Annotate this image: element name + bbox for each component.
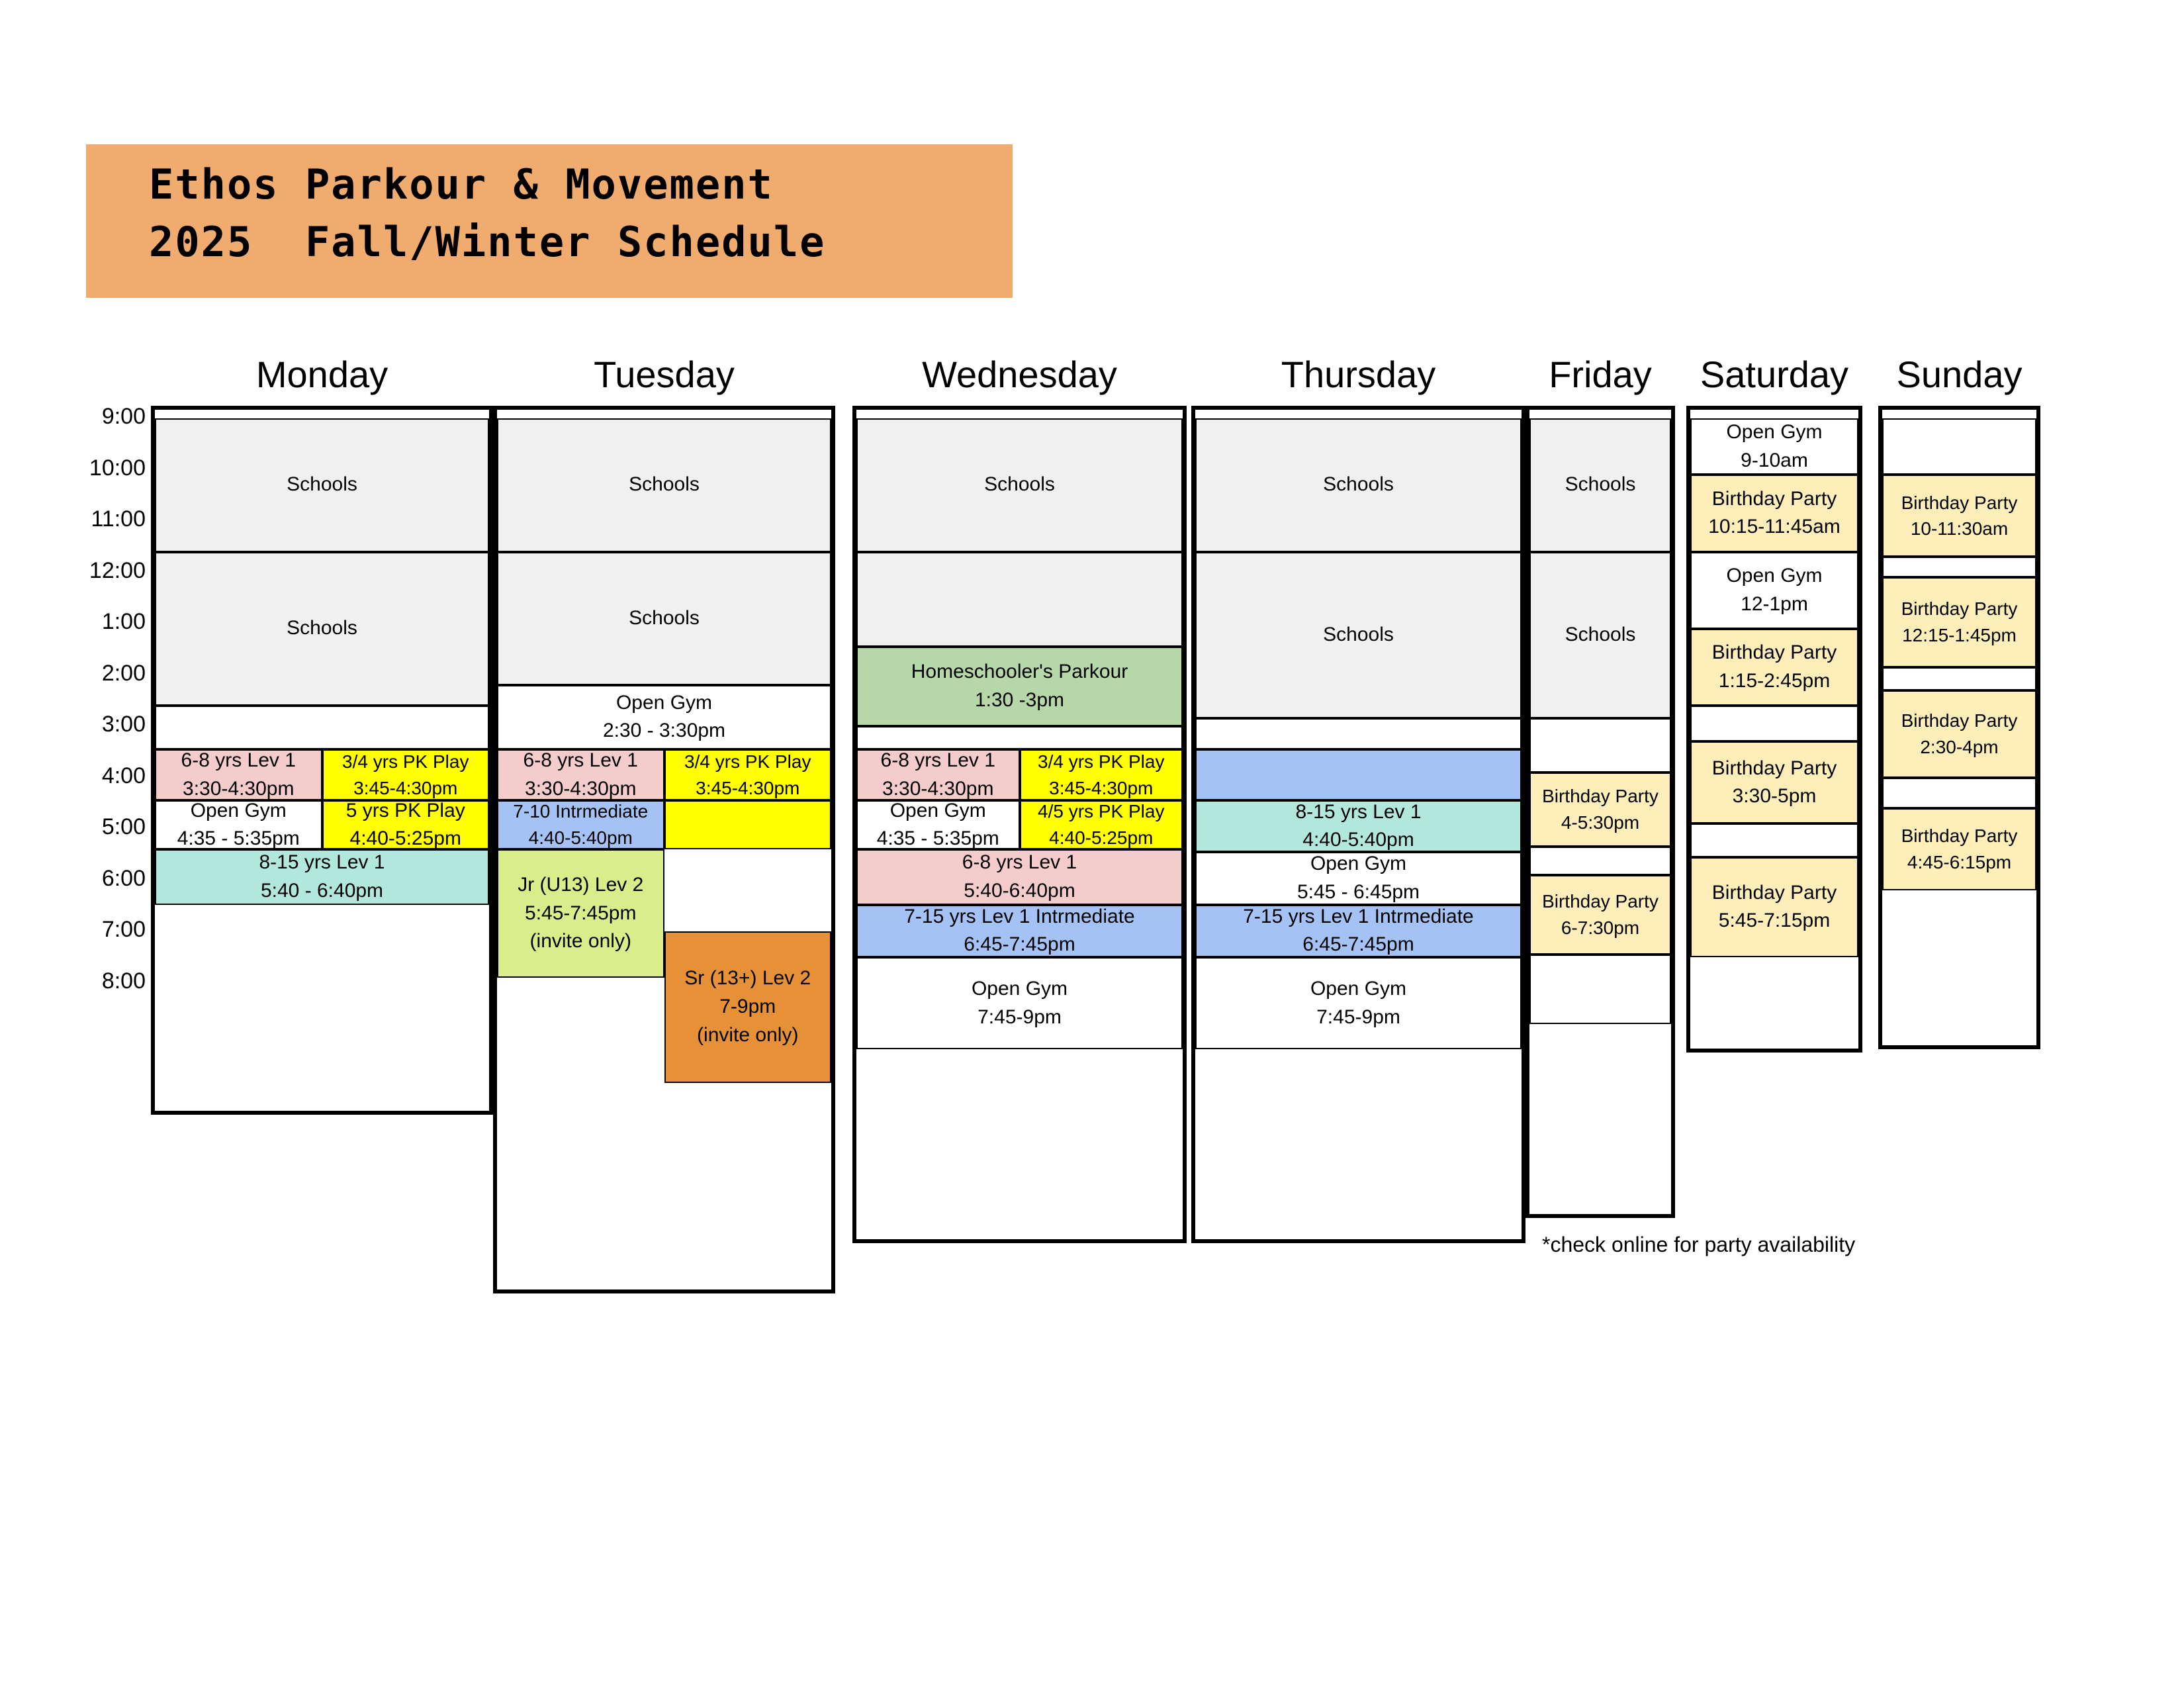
day-header-wednesday: Wednesday — [852, 353, 1187, 396]
time-label-100: 1:00 — [40, 609, 146, 635]
empty-slot — [664, 800, 832, 849]
event-line: 6-8 yrs Lev 1 — [523, 749, 638, 775]
event-line: (invite only) — [697, 1021, 798, 1050]
event-line: 5:40 - 6:40pm — [261, 877, 383, 905]
event-block[interactable]: Schools — [856, 418, 1183, 552]
event-block[interactable]: 6-8 yrs Lev 15:40-6:40pm — [856, 849, 1183, 905]
empty-slot — [1690, 706, 1858, 741]
footnote-text: *check online for party availability — [1542, 1233, 1855, 1257]
event-line: Birthday Party — [1542, 783, 1659, 810]
event-block[interactable]: Open Gym12-1pm — [1690, 552, 1858, 629]
event-line: Open Gym — [1310, 975, 1406, 1004]
event-line: Open Gym — [1310, 852, 1406, 878]
event-line: (invite only) — [530, 927, 631, 956]
event-line: Open Gym — [191, 800, 287, 825]
event-line: 7-9pm — [719, 993, 776, 1021]
event-line: 5:45-7:45pm — [525, 900, 636, 928]
event-line: Schools — [984, 471, 1055, 499]
event-block[interactable]: Birthday Party4-5:30pm — [1529, 773, 1671, 847]
event-line: 5:40-6:40pm — [964, 877, 1075, 905]
event-line: 7-15 yrs Lev 1 Intrmediate — [1243, 905, 1474, 931]
event-block[interactable]: 5 yrs PK Play4:40-5:25pm — [322, 800, 490, 849]
empty-slot — [155, 706, 489, 749]
event-line: 6:45-7:45pm — [1302, 931, 1414, 957]
event-block[interactable]: Schools — [155, 552, 489, 706]
event-line: Schools — [287, 471, 357, 499]
event-line: 4-5:30pm — [1561, 810, 1639, 836]
event-line: 7:45-9pm — [1316, 1004, 1400, 1032]
event-line: 3:45-4:30pm — [1049, 775, 1153, 801]
event-line: Schools — [287, 614, 357, 643]
event-line: Birthday Party — [1901, 596, 2018, 622]
event-line: Schools — [1565, 471, 1636, 499]
event-block[interactable]: 7-15 yrs Lev 1 Intrmediate6:45-7:45pm — [856, 905, 1183, 957]
event-block[interactable]: Schools — [1529, 552, 1671, 719]
event-line: 7-10 Intrmediate — [513, 800, 648, 825]
event-block[interactable]: 3/4 yrs PK Play3:45-4:30pm — [1020, 749, 1183, 801]
event-block[interactable]: Birthday Party1:15-2:45pm — [1690, 629, 1858, 706]
event-block[interactable]: Open Gym5:45 - 6:45pm — [1195, 852, 1522, 905]
event-line: 3:30-4:30pm — [183, 775, 294, 801]
day-column-sunday: Birthday Party10-11:30amBirthday Party12… — [1878, 406, 2040, 1049]
event-block[interactable]: Schools — [1195, 552, 1522, 719]
empty-slot — [1690, 823, 1858, 857]
event-block[interactable]: Birthday Party10-11:30am — [1882, 475, 2036, 557]
day-column-monday: SchoolsSchools6-8 yrs Lev 13:30-4:30pm3/… — [151, 406, 493, 1115]
time-label-300: 3:00 — [40, 712, 146, 737]
event-line: 5:45 - 6:45pm — [1297, 878, 1420, 905]
event-line: 2:30 - 3:30pm — [603, 717, 725, 745]
event-block[interactable]: 7-15 yrs Lev 1 Intrmediate6:45-7:45pm — [1195, 905, 1522, 957]
empty-slot — [1882, 778, 2036, 809]
event-line: 3/4 yrs PK Play — [342, 749, 469, 775]
event-line: 8-15 yrs Lev 1 — [1295, 800, 1421, 826]
time-label-700: 7:00 — [40, 917, 146, 943]
event-line: 6-8 yrs Lev 1 — [881, 749, 995, 775]
time-label-600: 6:00 — [40, 866, 146, 892]
event-block[interactable]: Schools — [155, 418, 489, 552]
event-line: Open Gym — [1726, 418, 1822, 447]
empty-slot — [1882, 418, 2036, 475]
event-line: Birthday Party — [1901, 708, 2018, 734]
event-line: 1:30 -3pm — [975, 686, 1064, 715]
event-line: Birthday Party — [1712, 755, 1837, 783]
event-line: 4:35 - 5:35pm — [177, 825, 300, 849]
event-block[interactable]: 3/4 yrs PK Play3:45-4:30pm — [664, 749, 832, 801]
event-line: Open Gym — [616, 689, 712, 718]
event-block[interactable]: Schools — [497, 552, 831, 686]
event-line: 4/5 yrs PK Play — [1038, 800, 1164, 825]
time-label-800: 8:00 — [40, 968, 146, 994]
event-block[interactable]: Sr (13+) Lev 27-9pm(invite only) — [664, 931, 832, 1083]
event-line: Schools — [1323, 471, 1394, 499]
event-block[interactable]: 8-15 yrs Lev 14:40-5:40pm — [1195, 800, 1522, 852]
event-line: 12-1pm — [1741, 590, 1808, 619]
time-label-1100: 11:00 — [40, 506, 146, 532]
event-line: 3:30-5pm — [1733, 782, 1817, 811]
event-block[interactable]: Open Gym4:35 - 5:35pm — [856, 800, 1020, 849]
event-line: 1:15-2:45pm — [1719, 667, 1830, 696]
event-line: 3:30-4:30pm — [882, 775, 993, 801]
event-block[interactable]: Birthday Party5:45-7:15pm — [1690, 857, 1858, 957]
event-line: 3/4 yrs PK Play — [1038, 749, 1164, 775]
event-line: 12:15-1:45pm — [1902, 622, 2017, 649]
empty-slot — [1195, 718, 1522, 749]
event-line: 5:45-7:15pm — [1719, 907, 1830, 935]
empty-slot — [1529, 955, 1671, 1024]
empty-slot — [1529, 718, 1671, 772]
day-column-friday: SchoolsSchoolsBirthday Party4-5:30pmBirt… — [1525, 406, 1675, 1218]
event-block[interactable]: 4/5 yrs PK Play4:40-5:25pm — [1020, 800, 1183, 849]
event-block[interactable]: Birthday Party3:30-5pm — [1690, 741, 1858, 823]
event-block[interactable]: Open Gym7:45-9pm — [1195, 957, 1522, 1050]
day-column-thursday: SchoolsSchools8-15 yrs Lev 14:40-5:40pmO… — [1191, 406, 1525, 1243]
day-header-thursday: Thursday — [1191, 353, 1525, 396]
event-line: 6-7:30pm — [1561, 915, 1639, 941]
event-line: 3:30-4:30pm — [525, 775, 636, 801]
day-header-sunday: Sunday — [1878, 353, 2040, 396]
event-line: 4:40-5:25pm — [350, 825, 461, 849]
day-header-saturday: Saturday — [1686, 353, 1862, 396]
event-line: 5 yrs PK Play — [346, 800, 465, 825]
event-line: 4:40-5:25pm — [1049, 825, 1153, 849]
event-line: 9-10am — [1741, 447, 1808, 475]
event-line: 10:15-11:45am — [1708, 513, 1841, 541]
empty-slot — [856, 726, 1183, 749]
event-line: Schools — [629, 471, 700, 499]
day-header-monday: Monday — [151, 353, 493, 396]
event-block[interactable]: Open Gym4:35 - 5:35pm — [155, 800, 322, 849]
event-block[interactable]: Homeschooler's Parkour1:30 -3pm — [856, 647, 1183, 726]
event-line: Sr (13+) Lev 2 — [684, 964, 811, 993]
event-line: 3/4 yrs PK Play — [684, 749, 811, 775]
day-column-saturday: Open Gym9-10amBirthday Party10:15-11:45a… — [1686, 406, 1862, 1053]
day-column-tuesday: SchoolsSchoolsOpen Gym2:30 - 3:30pm6-8 y… — [493, 406, 835, 1293]
day-column-wednesday: SchoolsHomeschooler's Parkour1:30 -3pm6-… — [852, 406, 1187, 1243]
event-block[interactable]: 3/4 yrs PK Play3:45-4:30pm — [322, 749, 490, 801]
time-label-900: 9:00 — [40, 404, 146, 430]
time-label-400: 4:00 — [40, 763, 146, 789]
event-block[interactable]: Schools — [1529, 418, 1671, 552]
time-label-1000: 10:00 — [40, 455, 146, 481]
event-line: 6:45-7:45pm — [964, 931, 1075, 957]
event-line: Schools — [629, 604, 700, 633]
time-label-500: 5:00 — [40, 814, 146, 840]
event-line: 4:35 - 5:35pm — [877, 825, 999, 849]
event-line: 4:40-5:40pm — [529, 825, 633, 849]
event-block[interactable]: Birthday Party4:45-6:15pm — [1882, 808, 2036, 890]
event-line: 7:45-9pm — [978, 1004, 1062, 1032]
event-block[interactable]: 6-8 yrs Lev 13:30-4:30pm — [155, 749, 322, 801]
event-block[interactable]: Birthday Party2:30-4pm — [1882, 690, 2036, 778]
schedule-grid: 9:0010:0011:0012:001:002:003:004:005:006… — [0, 0, 2184, 1688]
event-line: 8-15 yrs Lev 1 — [259, 849, 385, 877]
event-line: 2:30-4pm — [1920, 734, 1998, 761]
event-line: Open Gym — [890, 800, 986, 825]
event-block[interactable]: 7-10 Intrmediate4:40-5:40pm — [497, 800, 664, 849]
time-label-200: 2:00 — [40, 661, 146, 686]
event-line: 10-11:30am — [1911, 516, 2008, 542]
event-block[interactable]: Birthday Party6-7:30pm — [1529, 875, 1671, 955]
event-line: Open Gym — [1726, 562, 1822, 590]
event-line: Birthday Party — [1712, 879, 1837, 908]
event-block[interactable]: 6-8 yrs Lev 13:30-4:30pm — [856, 749, 1020, 801]
empty-slot — [1195, 749, 1522, 801]
empty-slot — [1529, 847, 1671, 875]
event-block[interactable]: Schools — [1195, 418, 1522, 552]
event-block[interactable]: Open Gym2:30 - 3:30pm — [497, 685, 831, 749]
event-line: 6-8 yrs Lev 1 — [962, 849, 1077, 877]
event-line: Schools — [1565, 621, 1636, 649]
empty-slot — [856, 552, 1183, 647]
event-block[interactable]: 8-15 yrs Lev 15:40 - 6:40pm — [155, 849, 489, 905]
event-line: Birthday Party — [1542, 888, 1659, 915]
event-line: 3:45-4:30pm — [696, 775, 799, 801]
event-block[interactable]: Open Gym9-10am — [1690, 418, 1858, 475]
event-block[interactable]: Schools — [497, 418, 831, 552]
day-header-friday: Friday — [1525, 353, 1675, 396]
empty-slot — [1882, 557, 2036, 577]
event-line: 4:40-5:40pm — [1302, 826, 1414, 852]
event-line: 4:45-6:15pm — [1907, 849, 2011, 876]
event-line: Birthday Party — [1901, 490, 2018, 516]
empty-slot — [1882, 667, 2036, 690]
event-block[interactable]: Open Gym7:45-9pm — [856, 957, 1183, 1050]
event-block[interactable]: Jr (U13) Lev 25:45-7:45pm(invite only) — [497, 849, 664, 978]
event-line: Jr (U13) Lev 2 — [518, 871, 643, 900]
event-line: 6-8 yrs Lev 1 — [181, 749, 296, 775]
event-line: Open Gym — [972, 975, 1068, 1004]
event-block[interactable]: 6-8 yrs Lev 13:30-4:30pm — [497, 749, 664, 801]
event-block[interactable]: Birthday Party10:15-11:45am — [1690, 475, 1858, 551]
event-line: 3:45-4:30pm — [353, 775, 457, 801]
event-line: Schools — [1323, 621, 1394, 649]
event-line: Homeschooler's Parkour — [911, 658, 1128, 686]
time-label-1200: 12:00 — [40, 558, 146, 584]
event-line: Birthday Party — [1901, 823, 2018, 849]
event-block[interactable]: Birthday Party12:15-1:45pm — [1882, 577, 2036, 667]
event-line: Birthday Party — [1712, 639, 1837, 667]
day-header-tuesday: Tuesday — [493, 353, 835, 396]
event-line: Birthday Party — [1712, 485, 1837, 514]
event-line: 7-15 yrs Lev 1 Intrmediate — [904, 905, 1135, 931]
